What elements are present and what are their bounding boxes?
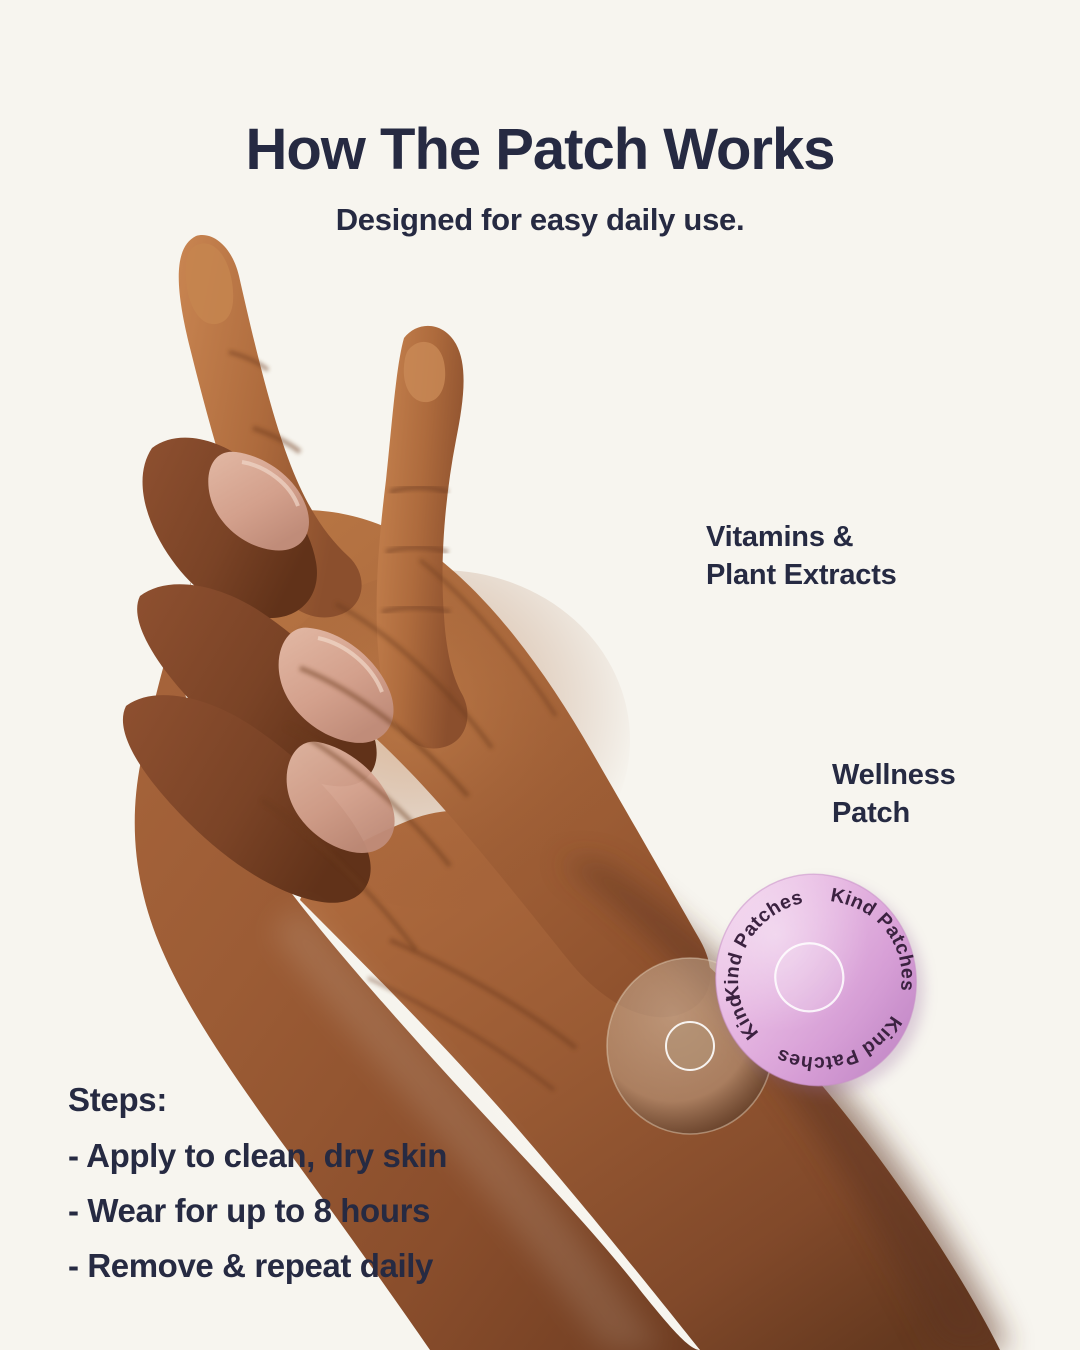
poster-canvas: Kind Patches Kind Patches Kind Patches K… (0, 0, 1080, 1350)
step-item-3: - Remove & repeat daily (68, 1247, 447, 1285)
steps-block: Steps: - Apply to clean, dry skin - Wear… (68, 1081, 447, 1302)
middle-fingertip (404, 342, 445, 402)
steps-heading: Steps: (68, 1081, 447, 1119)
callout-label-wellness: Wellness Patch (832, 756, 956, 833)
page-subtitle: Designed for easy daily use. (0, 202, 1080, 238)
step-item-1: - Apply to clean, dry skin (68, 1137, 447, 1175)
callout-label-vitamins: Vitamins & Plant Extracts (706, 518, 897, 595)
page-title: How The Patch Works (0, 120, 1080, 181)
step-item-2: - Wear for up to 8 hours (68, 1192, 447, 1230)
